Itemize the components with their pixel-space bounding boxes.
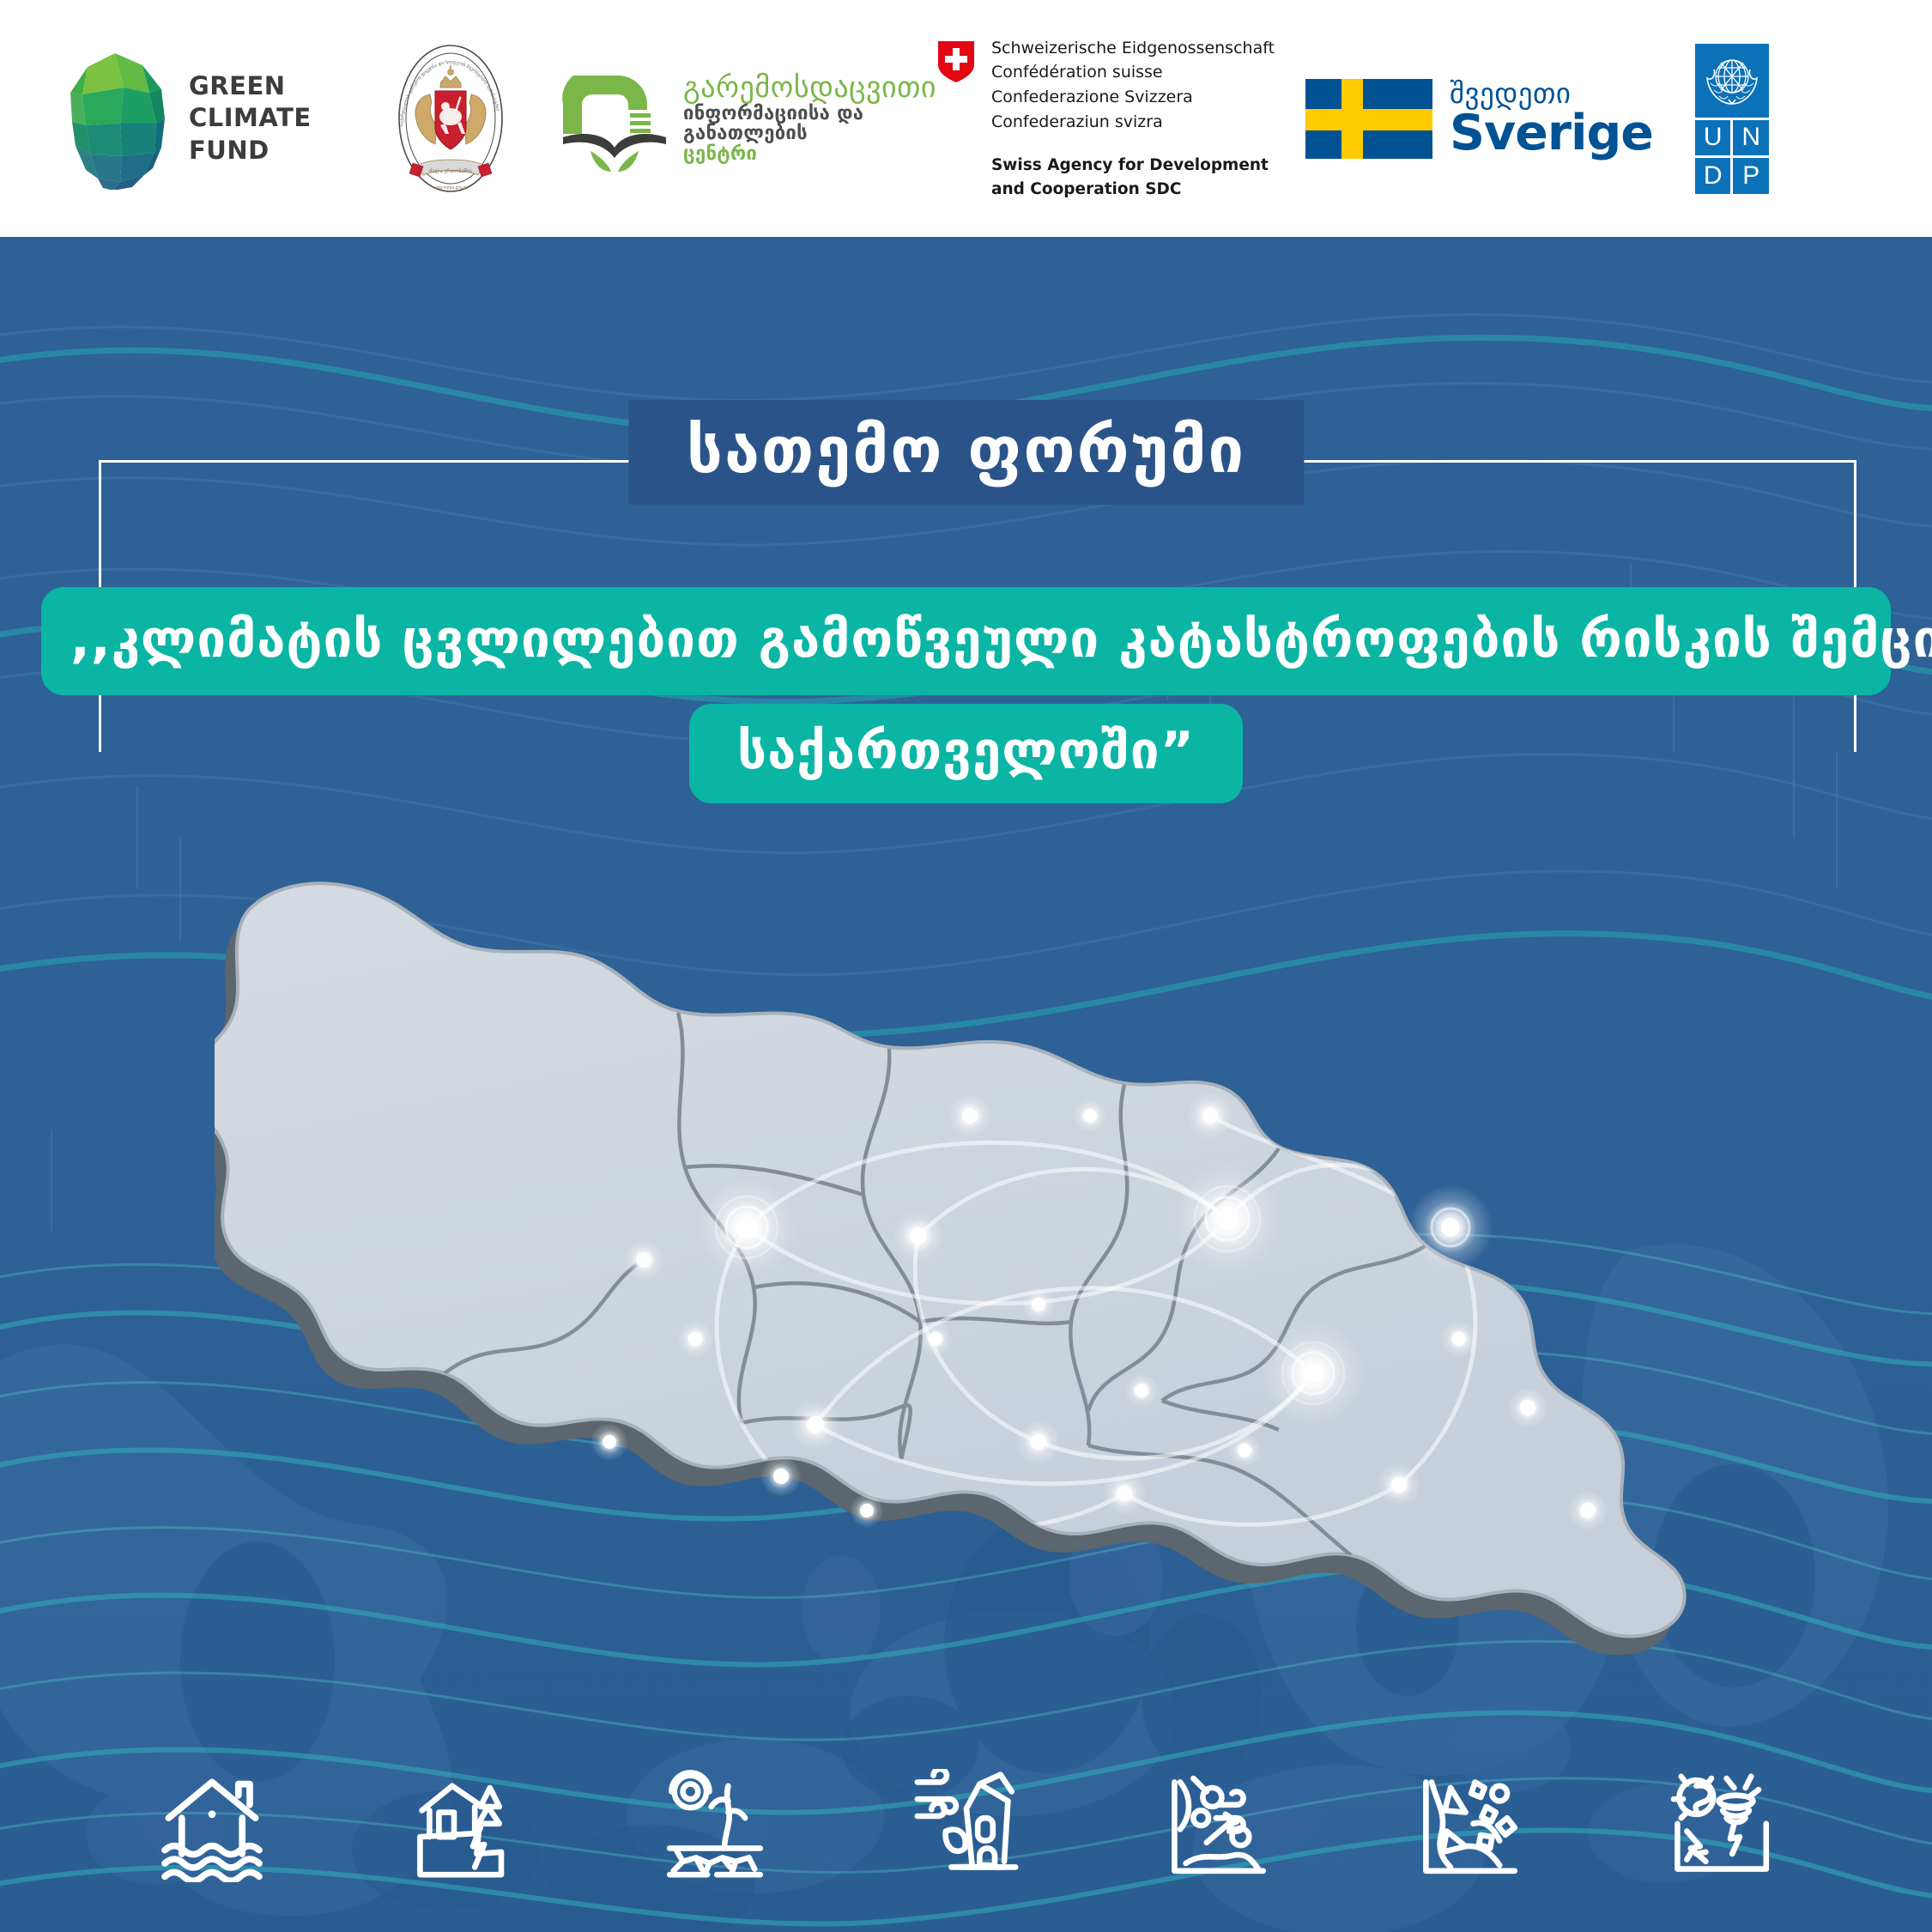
swiss-wordmark: Schweizerische Eidgenossenschaft Confédé… <box>991 36 1275 202</box>
mudflow-icon <box>1092 1769 1343 1882</box>
map-node-minor <box>850 1493 884 1528</box>
sweden-flag-icon <box>1305 79 1432 159</box>
map-node-minor <box>893 1210 944 1262</box>
swiss-line-de: Schweizerische Eidgenossenschaft <box>991 36 1275 61</box>
undp-letter-d: D <box>1695 158 1731 194</box>
map-node-minor <box>676 1320 714 1358</box>
environmental-information-education-centre-logo: გარემოსდაცვითი ინფორმაციისა და განათლები… <box>558 62 936 175</box>
georgia-ministry-seal-logo: საქართველოს გარემოს დაცვისა და სოფლის მე… <box>343 43 558 194</box>
headline-line-1: ,,კლიმატის ცვლილებით გამოწვეული კატასტრო… <box>41 587 1891 695</box>
swiss-line-it: Confederazione Svizzera <box>991 85 1275 110</box>
undp-letter-u: U <box>1695 120 1731 156</box>
gcf-globe-icon <box>60 48 170 190</box>
map-node-minor <box>760 1456 802 1497</box>
swiss-agency-line-1: Swiss Agency for Development <box>991 154 1275 178</box>
map-node-minor <box>948 1093 992 1138</box>
eiec-line-2: ინფორმაციისა და განათლების <box>683 104 936 145</box>
map-node-minor <box>918 1322 953 1356</box>
undp-logo: U N D P <box>1666 44 1769 194</box>
gcf-line-3: FUND <box>189 135 312 167</box>
un-emblem-icon <box>1695 44 1769 118</box>
map-node-minor <box>1102 1471 1147 1516</box>
map-node-minor <box>1440 1320 1478 1358</box>
map-node-minor <box>1567 1490 1608 1531</box>
flood-icon <box>86 1769 337 1882</box>
map-node-minor <box>1227 1433 1262 1468</box>
swiss-cross-shield-icon <box>936 39 976 84</box>
windstorm-icon <box>840 1769 1092 1882</box>
page-title: სათემო ფორუმი <box>687 419 1245 482</box>
gcf-line-1: GREEN <box>189 70 312 102</box>
undp-letter-p: P <box>1733 158 1769 194</box>
hailstorm-icon <box>1595 1769 1846 1882</box>
partner-logo-bar: GREEN CLIMATE FUND საქართველოს გარემოს დ… <box>0 0 1932 237</box>
map-node-minor <box>1186 1092 1234 1140</box>
map-node-minor <box>623 1239 664 1281</box>
rockfall-icon <box>1343 1769 1595 1882</box>
map-node-minor <box>1073 1099 1107 1133</box>
headline-line-2: საქართველოში” <box>689 704 1243 803</box>
ministry-seal-icon: საქართველოს გარემოს დაცვისა და სოფლის მე… <box>382 43 519 194</box>
map-node-minor <box>1124 1373 1159 1408</box>
undp-letter-n: N <box>1733 120 1769 156</box>
swiss-sdc-logo: Schweizerische Eidgenossenschaft Confédé… <box>936 36 1305 202</box>
green-climate-fund-logo: GREEN CLIMATE FUND <box>60 48 343 190</box>
georgia-map <box>215 858 1759 1682</box>
map-node-minor <box>1507 1387 1548 1428</box>
poster-canvas: GREEN CLIMATE FUND საქართველოს გარემოს დ… <box>0 0 1932 1932</box>
gcf-line-2: CLIMATE <box>189 102 312 134</box>
headline-block: ,,კლიმატის ცვლილებით გამოწვეული კატასტრო… <box>0 587 1932 803</box>
eiec-wordmark: გარემოსდაცვითი ინფორმაციისა და განათლები… <box>683 72 936 165</box>
map-node-major <box>1262 1322 1365 1425</box>
map-node-major <box>1172 1164 1282 1274</box>
title-chip: სათემო ფორუმი <box>628 400 1304 505</box>
eiec-line-3: ცენტრი <box>683 144 936 165</box>
eiec-line-1: გარემოსდაცვითი <box>683 72 936 104</box>
svg-text:ძალა ერთობაშია: ძალა ერთობაშია <box>429 167 472 174</box>
svg-text:www.mepa.gov.ge: www.mepa.gov.ge <box>433 185 469 191</box>
map-node-minor <box>1377 1463 1421 1507</box>
map-node-major <box>1408 1184 1493 1270</box>
sweden-logo: შვედეთი Sverige <box>1305 79 1666 159</box>
eiec-book-leaf-icon <box>558 62 671 175</box>
map-node-major <box>697 1178 796 1277</box>
swiss-line-rm: Confederaziun svizra <box>991 110 1275 135</box>
map-node-minor <box>790 1399 841 1451</box>
hazard-icon-row <box>0 1748 1932 1903</box>
drought-icon <box>589 1769 840 1882</box>
sweden-label-en: Sverige <box>1450 109 1653 158</box>
map-node-minor <box>1016 1420 1061 1464</box>
swiss-line-fr: Confédération suisse <box>991 60 1275 85</box>
map-node-minor <box>591 1423 628 1461</box>
sweden-wordmark: შვედეთი Sverige <box>1450 79 1653 158</box>
sweden-label-ka: შვედეთი <box>1450 79 1653 107</box>
map-node-minor <box>1021 1287 1056 1322</box>
gcf-wordmark: GREEN CLIMATE FUND <box>189 70 312 166</box>
landslide-icon <box>337 1769 589 1882</box>
swiss-agency-line-2: and Cooperation SDC <box>991 178 1275 202</box>
